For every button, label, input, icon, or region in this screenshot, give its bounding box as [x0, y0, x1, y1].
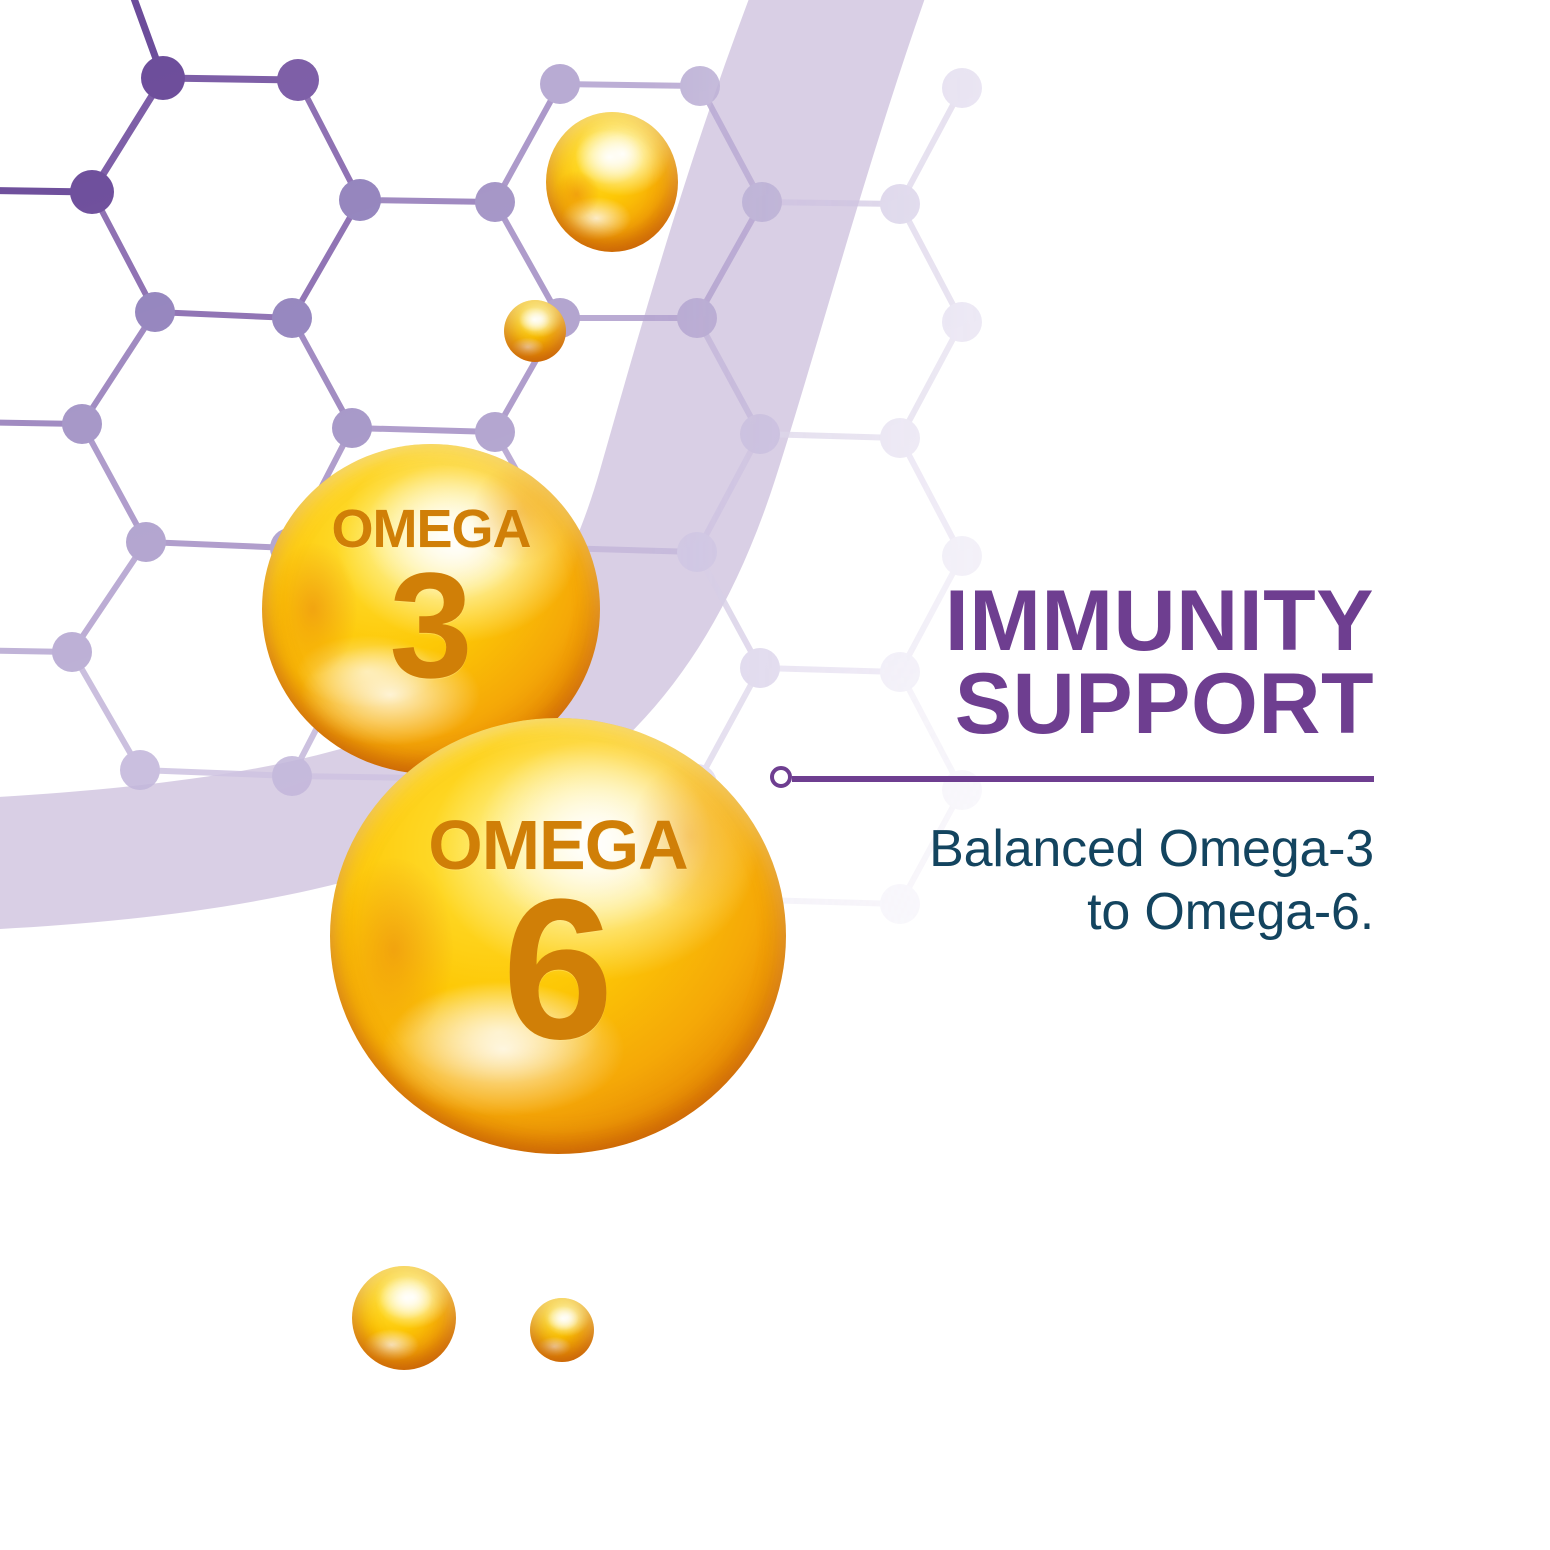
oil-droplet-decor-top-large [546, 112, 678, 252]
subtext-line-2: to Omega-6. [860, 881, 1374, 944]
oil-droplet-decor-bottom-small [530, 1298, 594, 1362]
divider-rule [792, 776, 1374, 782]
subtext-block: Balanced Omega-3 to Omega-6. [860, 818, 1374, 945]
divider [770, 766, 1374, 792]
omega-6-bubble: OMEGA 6 [330, 718, 786, 1154]
headline-line-2: SUPPORT [840, 663, 1374, 746]
headline-line-1: IMMUNITY [840, 580, 1374, 663]
oil-droplet-decor-bottom-large [352, 1266, 456, 1370]
divider-endpoint-dot-icon [770, 766, 792, 788]
promo-graphic-canvas: OMEGA 3 OMEGA 6 IMMUNITY SUPPORT Balance… [0, 0, 1550, 1550]
subtext-line-1: Balanced Omega-3 [860, 818, 1374, 881]
headline-block: IMMUNITY SUPPORT [840, 580, 1374, 745]
oil-droplet-decor-top-small [504, 300, 566, 362]
